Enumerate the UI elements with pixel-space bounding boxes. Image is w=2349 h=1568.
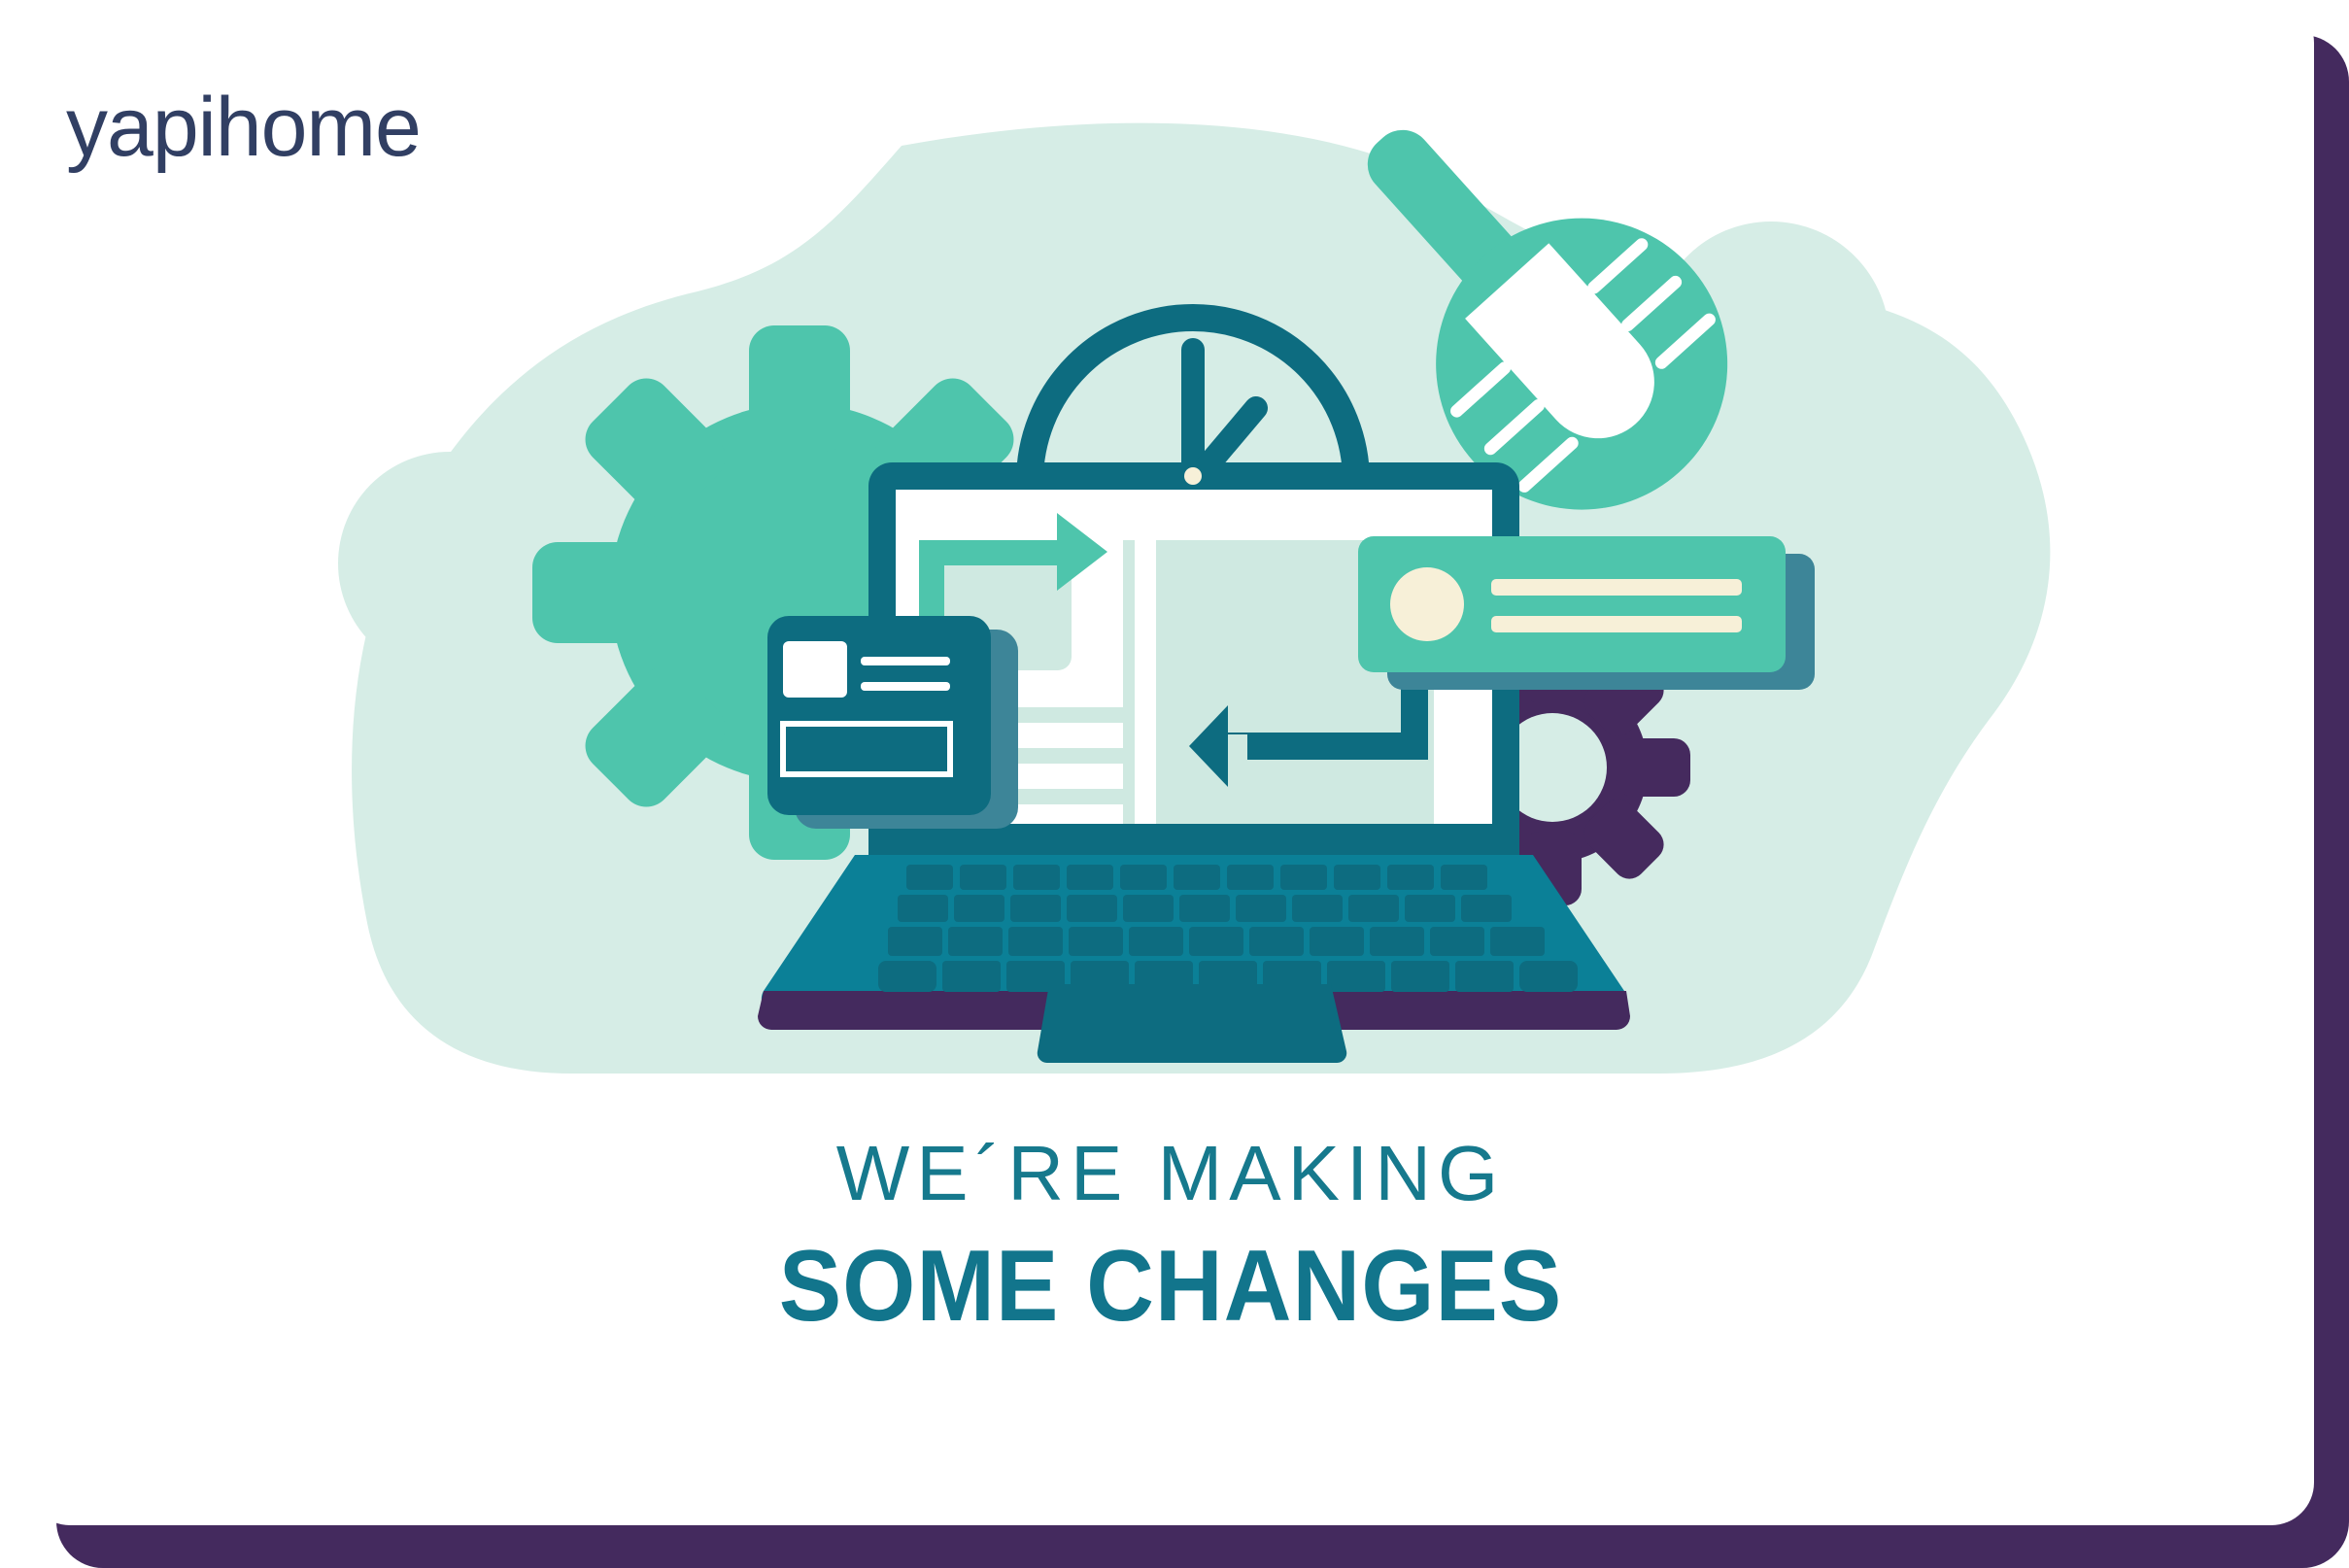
laptop-trackpad — [1038, 984, 1346, 1063]
headline-block: WE´RE MAKING SOME CHANGES — [27, 1127, 2314, 1345]
announcement-card: yapihome — [27, 0, 2314, 1525]
webcam-dot — [1184, 467, 1202, 485]
small-circle-left — [338, 452, 562, 675]
laptop-keyboard — [878, 865, 1578, 992]
headline-line-1: WE´RE MAKING — [27, 1127, 2314, 1220]
page-root: yapihome — [0, 0, 2349, 1568]
card-left-dark — [767, 616, 1018, 829]
maintenance-illustration — [27, 0, 2314, 1146]
headline-line-2: SOME CHANGES — [107, 1228, 2233, 1345]
card-right-mint — [1358, 536, 1815, 690]
avatar-circle — [1390, 567, 1464, 641]
